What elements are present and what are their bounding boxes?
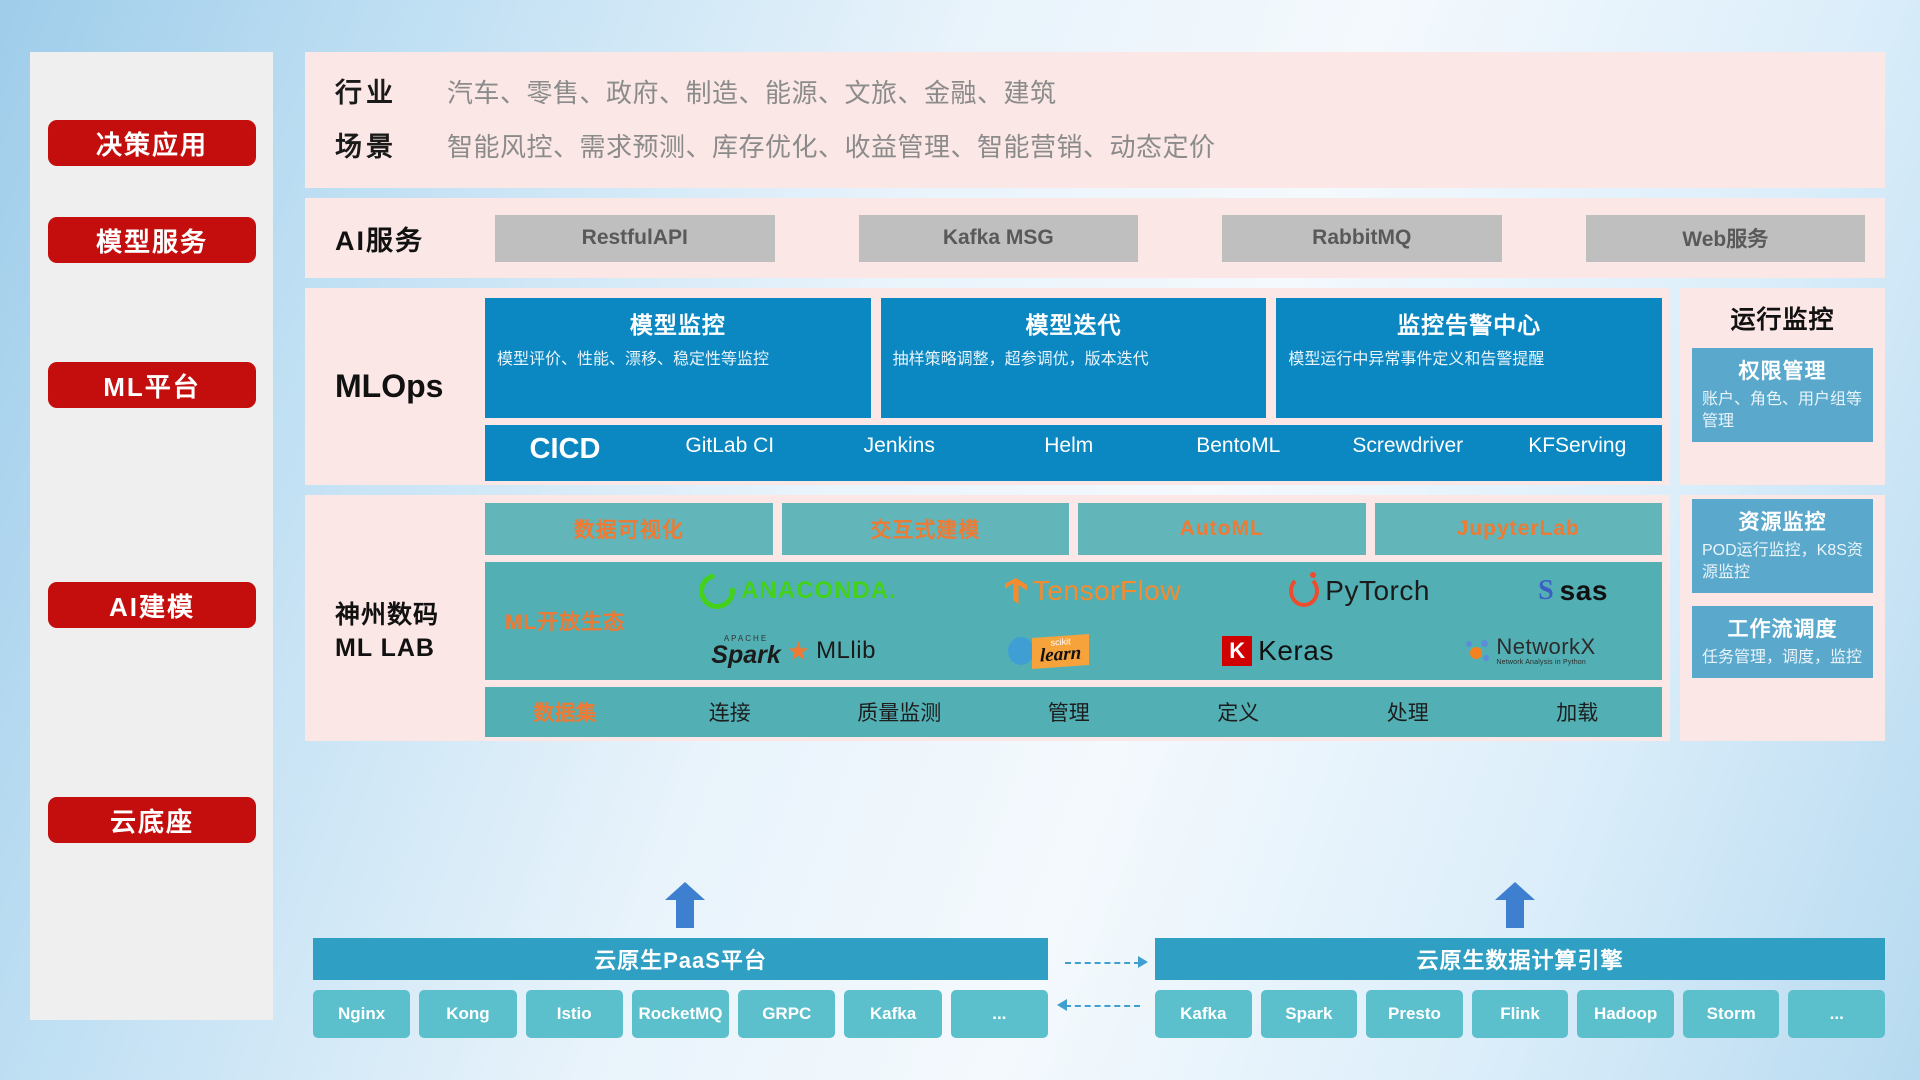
paas-bar[interactable]: 云原生PaaS平台 (313, 938, 1048, 980)
dataset-title: 数据集 (485, 697, 645, 727)
connector-dashed-top (1065, 962, 1140, 964)
connector-arrowhead-right (1138, 956, 1148, 968)
rail-item-decision-app[interactable]: 决策应用 (48, 120, 256, 166)
monitor-card-desc: 任务管理，调度，监控 (1702, 647, 1863, 669)
band-gap (305, 278, 1885, 288)
logo-row-top: ANACONDA. TensorFlow PyTorch (645, 562, 1662, 620)
pytorch-flame-icon (1289, 575, 1319, 607)
logo-sas: S sas (1538, 575, 1608, 607)
monitor-card-desc: POD运行监控，K8S资源监控 (1702, 540, 1863, 584)
cicd-title: CICD (485, 431, 645, 467)
engine-pill-spark[interactable]: Spark (1261, 990, 1358, 1038)
ai-service-title: AI服务 (335, 219, 485, 258)
monitor-card-title: 资源监控 (1702, 506, 1863, 536)
data-engine-bar[interactable]: 云原生数据计算引擎 (1155, 938, 1885, 980)
mllab-tool-data-visualization[interactable]: 数据可视化 (485, 503, 773, 555)
sas-s-icon: S (1538, 575, 1554, 607)
engine-pill-hadoop[interactable]: Hadoop (1577, 990, 1674, 1038)
cloud-base-section: 云原生PaaS平台 Nginx Kong Istio RocketMQ GRPC… (305, 890, 1885, 1050)
monitor-card-title: 权限管理 (1702, 355, 1863, 385)
dataset-row: 数据集 连接 质量监测 管理 定义 处理 加载 (485, 687, 1662, 737)
mllab-band: 神州数码 ML LAB 数据可视化 交互式建模 AutoML JupyterLa… (305, 495, 1670, 741)
ai-service-chip-rabbitmq[interactable]: RabbitMQ (1222, 215, 1502, 262)
paas-pill-kong[interactable]: Kong (419, 990, 516, 1038)
mlops-card-model-iteration[interactable]: 模型迭代 抽样策略调整，超参调优，版本迭代 (881, 298, 1267, 418)
rail-label: AI建模 (109, 587, 195, 624)
rail-item-model-service[interactable]: 模型服务 (48, 217, 256, 263)
keras-mark-icon: K (1222, 636, 1252, 666)
runtime-monitor-panel-top: 运行监控 权限管理 账户、角色、用户组等管理 (1680, 288, 1885, 485)
mllab-tool-interactive-modeling[interactable]: 交互式建模 (782, 503, 1070, 555)
paas-pill-nginx[interactable]: Nginx (313, 990, 410, 1038)
mllab-title-line1: 神州数码 (335, 599, 485, 632)
arrow-up-paas (665, 882, 705, 928)
industry-value: 汽车、零售、政府、制造、能源、文旅、金融、建筑 (447, 66, 1885, 120)
cicd-item-kfserving[interactable]: KFServing (1493, 431, 1663, 461)
mllab-tool-jupyterlab[interactable]: JupyterLab (1375, 503, 1663, 555)
logo-spark-mllib: APACHE Spark ★ MLlib (711, 635, 876, 668)
layer-rail: 决策应用 模型服务 ML平台 AI建模 云底座 (30, 52, 273, 1020)
logo-keras: K Keras (1222, 635, 1334, 667)
paas-group: 云原生PaaS平台 Nginx Kong Istio RocketMQ GRPC… (313, 938, 1048, 1038)
logo-row-bottom: APACHE Spark ★ MLlib scikit (645, 622, 1662, 680)
anaconda-ring-icon (692, 566, 742, 616)
scenario-value: 智能风控、需求预测、库存优化、收益管理、智能营销、动态定价 (447, 120, 1885, 174)
tensorflow-icon (1005, 578, 1027, 604)
mlops-card-desc: 抽样策略调整，超参调优，版本迭代 (893, 348, 1255, 371)
scikit-bottom-label: learn (1040, 642, 1081, 667)
paas-pill-grpc[interactable]: GRPC (738, 990, 835, 1038)
arrow-up-data-engine (1495, 882, 1535, 928)
band-gap (305, 188, 1885, 198)
ai-service-chip-kafka-msg[interactable]: Kafka MSG (859, 215, 1139, 262)
engine-pill-kafka[interactable]: Kafka (1155, 990, 1252, 1038)
tensorflow-wordmark: TensorFlow (1033, 575, 1181, 607)
spark-star-icon: ★ (787, 636, 810, 667)
logo-pytorch: PyTorch (1289, 575, 1430, 607)
mlops-card-title: 模型监控 (497, 306, 859, 340)
rail-label: 决策应用 (96, 125, 208, 162)
industry-scenario-labels: 行业 场景 (335, 66, 447, 174)
main-stack: 行业 场景 汽车、零售、政府、制造、能源、文旅、金融、建筑 智能风控、需求预测、… (305, 52, 1885, 741)
mlops-card-desc: 模型运行中异常事件定义和告警提醒 (1288, 348, 1650, 371)
cicd-item-bentoml[interactable]: BentoML (1154, 431, 1324, 461)
cicd-item-helm[interactable]: Helm (984, 431, 1154, 461)
data-engine-pill-list: Kafka Spark Presto Flink Hadoop Storm ..… (1155, 990, 1885, 1038)
networkx-wordmark-group: NetworkX Network Analysis in Python (1496, 635, 1595, 667)
engine-pill-more[interactable]: ... (1788, 990, 1885, 1038)
mlops-band: MLOps 模型监控 模型评价、性能、漂移、稳定性等监控 模型迭代 抽样策略调整… (305, 288, 1670, 485)
paas-pill-more[interactable]: ... (951, 990, 1048, 1038)
spark-wordmark-group: APACHE Spark (711, 635, 780, 668)
mlops-title: MLOps (335, 298, 485, 405)
keras-wordmark: Keras (1258, 635, 1334, 667)
networkx-graph-icon (1466, 640, 1490, 662)
networkx-wordmark: NetworkX (1496, 635, 1595, 659)
logo-networkx: NetworkX Network Analysis in Python (1466, 635, 1595, 667)
mlops-card-desc: 模型评价、性能、漂移、稳定性等监控 (497, 348, 859, 371)
mllab-content: 数据可视化 交互式建模 AutoML JupyterLab ML开放生态 ANA… (485, 503, 1662, 737)
ai-service-band: AI服务 RestfulAPI Kafka MSG RabbitMQ Web服务 (305, 198, 1885, 278)
paas-pill-rocketmq[interactable]: RocketMQ (632, 990, 729, 1038)
ai-service-chip-web[interactable]: Web服务 (1586, 215, 1866, 262)
monitor-card-title: 工作流调度 (1702, 613, 1863, 643)
mllab-tool-automl[interactable]: AutoML (1078, 503, 1366, 555)
paas-pill-kafka[interactable]: Kafka (844, 990, 941, 1038)
cicd-row: CICD GitLab CI Jenkins Helm BentoML Scre… (485, 425, 1662, 481)
scikit-tag: scikit learn (1032, 634, 1089, 669)
band-gap (305, 485, 1885, 495)
ai-service-chip-restfulapi[interactable]: RestfulAPI (495, 215, 775, 262)
mllab-tool-list: 数据可视化 交互式建模 AutoML JupyterLab (485, 503, 1662, 555)
engine-pill-flink[interactable]: Flink (1472, 990, 1569, 1038)
dataset-item-connect[interactable]: 连接 (645, 697, 815, 727)
cicd-item-jenkins[interactable]: Jenkins (815, 431, 985, 461)
connector-arrowhead-left (1057, 999, 1067, 1011)
mlops-content: 模型监控 模型评价、性能、漂移、稳定性等监控 模型迭代 抽样策略调整，超参调优，… (485, 298, 1662, 481)
cicd-item-screwdriver[interactable]: Screwdriver (1323, 431, 1493, 461)
mlops-card-alert-center[interactable]: 监控告警中心 模型运行中异常事件定义和告警提醒 (1276, 298, 1662, 418)
scenario-label: 场景 (335, 120, 447, 174)
dataset-item-load[interactable]: 加载 (1493, 697, 1663, 727)
spark-wordmark: Spark (711, 643, 780, 668)
data-engine-group: 云原生数据计算引擎 Kafka Spark Presto Flink Hadoo… (1155, 938, 1885, 1038)
rail-label: 云底座 (110, 802, 194, 839)
runtime-monitor-panel-bottom: 资源监控 POD运行监控，K8S资源监控 工作流调度 任务管理，调度，监控 (1680, 495, 1885, 741)
industry-scenario-values: 汽车、零售、政府、制造、能源、文旅、金融、建筑 智能风控、需求预测、库存优化、收… (447, 66, 1885, 174)
mlops-monitor-row: MLOps 模型监控 模型评价、性能、漂移、稳定性等监控 模型迭代 抽样策略调整… (305, 288, 1885, 485)
mlops-card-title: 监控告警中心 (1288, 306, 1650, 340)
mlops-card-list: 模型监控 模型评价、性能、漂移、稳定性等监控 模型迭代 抽样策略调整，超参调优，… (485, 298, 1662, 418)
ai-service-chip-list: RestfulAPI Kafka MSG RabbitMQ Web服务 (485, 215, 1865, 262)
rail-label: 模型服务 (96, 222, 208, 259)
rail-item-ml-platform[interactable]: ML平台 (48, 362, 256, 408)
monitor-card-workflow[interactable]: 工作流调度 任务管理，调度，监控 (1692, 606, 1873, 678)
paas-pill-istio[interactable]: Istio (526, 990, 623, 1038)
monitor-card-resource[interactable]: 资源监控 POD运行监控，K8S资源监控 (1692, 499, 1873, 593)
engine-pill-storm[interactable]: Storm (1683, 990, 1780, 1038)
logo-anaconda: ANACONDA. (699, 573, 897, 609)
logo-scikit-learn: scikit learn (1008, 636, 1089, 667)
monitor-card-desc: 账户、角色、用户组等管理 (1702, 389, 1863, 433)
mllab-title-line2: ML LAB (335, 632, 485, 665)
networkx-tagline: Network Analysis in Python (1496, 659, 1595, 667)
scikit-blob-icon (1008, 637, 1034, 665)
ml-ecosystem-logos: ANACONDA. TensorFlow PyTorch (645, 562, 1662, 680)
monitor-card-permission[interactable]: 权限管理 账户、角色、用户组等管理 (1692, 348, 1873, 442)
architecture-diagram: 决策应用 模型服务 ML平台 AI建模 云底座 行业 场景 汽车、零售、政府、制… (0, 0, 1920, 1080)
logo-tensorflow: TensorFlow (1005, 575, 1181, 607)
mllib-wordmark: MLlib (816, 637, 876, 665)
connector-dashed-bottom (1065, 1005, 1140, 1007)
anaconda-wordmark: ANACONDA. (741, 577, 897, 605)
dataset-item-process[interactable]: 处理 (1323, 697, 1493, 727)
mlops-card-title: 模型迭代 (893, 306, 1255, 340)
cicd-item-gitlab-ci[interactable]: GitLab CI (645, 431, 815, 461)
rail-item-cloud-base[interactable]: 云底座 (48, 797, 256, 843)
pytorch-wordmark: PyTorch (1325, 575, 1430, 607)
mllab-title: 神州数码 ML LAB (335, 503, 485, 665)
ml-ecosystem-title: ML开放生态 (485, 606, 645, 636)
mlops-card-model-monitoring[interactable]: 模型监控 模型评价、性能、漂移、稳定性等监控 (485, 298, 871, 418)
industry-scenario-band: 行业 场景 汽车、零售、政府、制造、能源、文旅、金融、建筑 智能风控、需求预测、… (305, 52, 1885, 188)
engine-pill-presto[interactable]: Presto (1366, 990, 1463, 1038)
dataset-item-manage[interactable]: 管理 (984, 697, 1154, 727)
rail-label: ML平台 (103, 367, 201, 404)
industry-label: 行业 (335, 66, 447, 120)
rail-item-ai-modeling[interactable]: AI建模 (48, 582, 256, 628)
dataset-item-quality[interactable]: 质量监测 (815, 697, 985, 727)
sas-wordmark: sas (1560, 575, 1608, 607)
runtime-monitor-title: 运行监控 (1692, 300, 1873, 336)
ml-ecosystem-row: ML开放生态 ANACONDA. TensorFlow (485, 562, 1662, 680)
dataset-item-define[interactable]: 定义 (1154, 697, 1324, 727)
mllab-monitor-row: 神州数码 ML LAB 数据可视化 交互式建模 AutoML JupyterLa… (305, 495, 1885, 741)
paas-pill-list: Nginx Kong Istio RocketMQ GRPC Kafka ... (313, 990, 1048, 1038)
